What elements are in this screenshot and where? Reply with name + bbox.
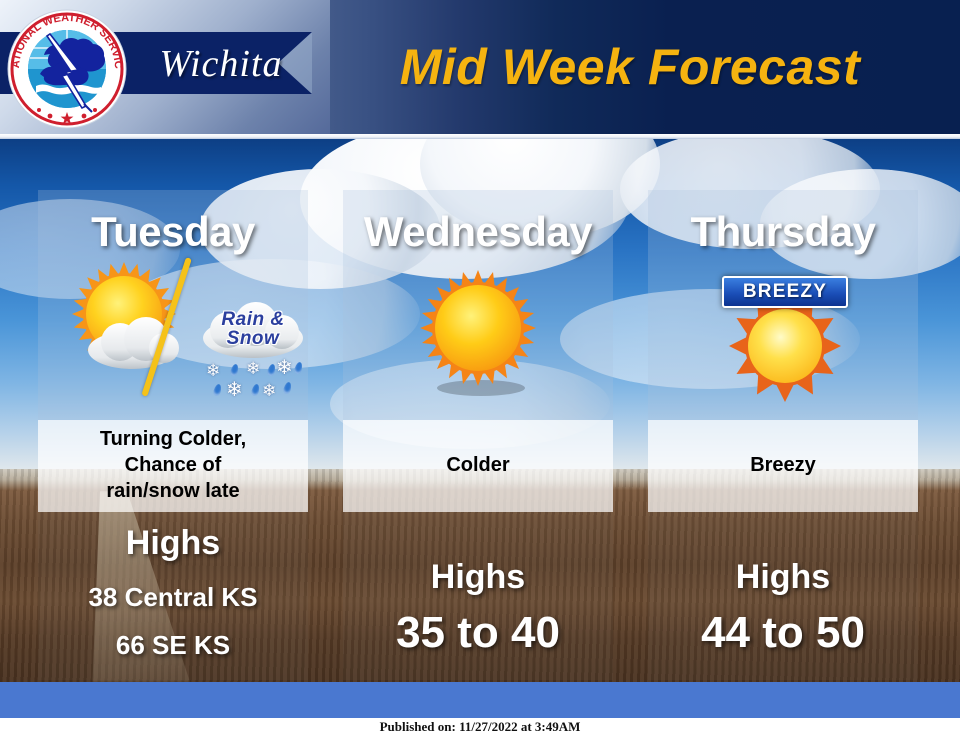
- published-timestamp: Published on: 11/27/2022 at 3:49AM: [0, 719, 960, 735]
- snowflake-icon: ❄: [226, 380, 243, 400]
- highs-value-wednesday: 35 to 40: [343, 608, 613, 658]
- condition-text-wednesday: Colder: [343, 452, 613, 478]
- forecast-graphic: Wichita Mid Week Forecast NATIONAL WEATH…: [0, 0, 960, 740]
- forecast-panel-tuesday: Tuesday: [38, 190, 308, 680]
- forecast-panel-wednesday: Wednesday: [343, 190, 613, 680]
- footer-bar: [0, 682, 960, 718]
- snowflake-icon: ❄: [276, 358, 293, 378]
- highs-value-thursday: 44 to 50: [648, 608, 918, 658]
- raindrop-icon: [282, 381, 292, 394]
- page-title: Mid Week Forecast: [330, 28, 930, 106]
- highs-line-tuesday-1: 38 Central KS: [38, 582, 308, 613]
- raindrop-icon: [250, 383, 260, 396]
- nws-logo-icon: NATIONAL WEATHER SERVICE: [6, 8, 128, 130]
- breezy-badge: BREEZY: [722, 276, 848, 308]
- day-name-tuesday: Tuesday: [38, 208, 308, 256]
- sun-icon: [413, 268, 543, 398]
- snowflake-icon: ❄: [206, 362, 220, 379]
- forecast-panel-thursday: Thursday BREEZY: [648, 190, 918, 680]
- highs-label-thursday: Highs: [648, 558, 918, 597]
- day-name-wednesday: Wednesday: [343, 208, 613, 256]
- raindrop-icon: [229, 363, 239, 376]
- condition-text-thursday: Breezy: [648, 452, 918, 478]
- office-name: Wichita: [136, 38, 306, 90]
- raindrop-icon: [266, 363, 276, 376]
- raindrop-icon: [212, 383, 222, 396]
- highs-label-wednesday: Highs: [343, 558, 613, 597]
- snowflake-icon: ❄: [246, 360, 260, 377]
- highs-label-tuesday: Highs: [38, 524, 308, 563]
- snowflake-icon: ❄: [262, 382, 276, 399]
- rain-snow-icon: Rain & Snow ❄ ❄ ❄ ❄ ❄: [198, 302, 308, 402]
- header-banner: Wichita Mid Week Forecast: [0, 0, 960, 136]
- sun-behind-cloud-icon: [64, 262, 194, 382]
- day-name-thursday: Thursday: [648, 208, 918, 256]
- highs-line-tuesday-2: 66 SE KS: [38, 630, 308, 661]
- rain-snow-label: Rain & Snow: [204, 310, 302, 349]
- condition-text-tuesday: Turning Colder, Chance of rain/snow late: [38, 426, 308, 504]
